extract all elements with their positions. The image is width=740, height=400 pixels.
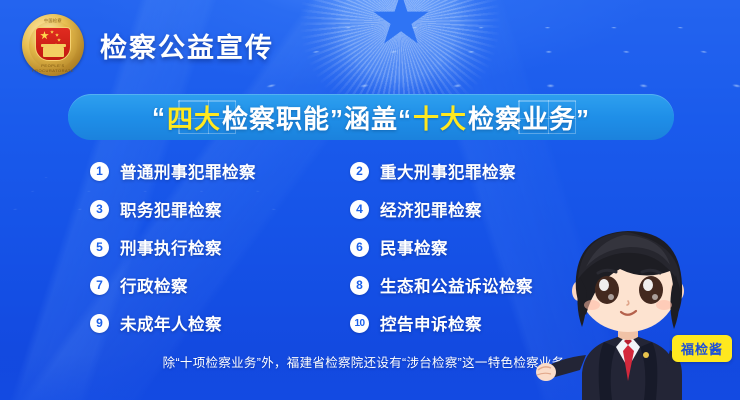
emblem-top-text: 中国检察: [22, 18, 84, 24]
list-item: 5 刑事执行检察: [90, 228, 350, 266]
list-item: 9 未成年人检察: [90, 304, 350, 342]
item-number: 4: [350, 200, 369, 219]
list-item: 1 普通刑事犯罪检察: [90, 152, 350, 190]
headline-segment-3: 十大: [412, 99, 468, 136]
item-label: 行政检察: [120, 273, 188, 297]
item-label: 未成年人检察: [120, 311, 222, 335]
item-label: 民事检察: [380, 235, 448, 259]
list-item: 2 重大刑事犯罪检察: [350, 152, 650, 190]
item-number: 10: [350, 314, 369, 333]
headline-text: “ 四大 检察职能”涵盖“ 十大 检察业务”: [152, 99, 590, 136]
list-item: 8 生态和公益诉讼检察: [350, 266, 650, 304]
headline-banner: “ 四大 检察职能”涵盖“ 十大 检察业务”: [68, 94, 674, 140]
promo-poster: 中国检察 PEOPLE'S PROCURATORATE 检察公益宣传 “ 四大 …: [0, 0, 740, 400]
list-item: 4 经济犯罪检察: [350, 190, 650, 228]
header: 中国检察 PEOPLE'S PROCURATORATE 检察公益宣传: [0, 0, 274, 90]
item-number: 8: [350, 276, 369, 295]
item-number: 5: [90, 238, 109, 257]
item-number: 1: [90, 162, 109, 181]
business-list: 1 普通刑事犯罪检察 2 重大刑事犯罪检察 3 职务犯罪检察 4 经济犯罪检察 …: [0, 152, 740, 342]
page-title: 检察公益宣传: [100, 26, 274, 65]
item-label: 重大刑事犯罪检察: [380, 159, 516, 183]
item-number: 2: [350, 162, 369, 181]
headline-segment-1: 四大: [166, 99, 222, 136]
footnote: 除“十项检察业务”外，福建省检察院还设有“涉台检察”这一特色检察业务。: [0, 352, 740, 371]
headline-segment-2: 检察职能”涵盖“: [222, 99, 412, 136]
item-number: 9: [90, 314, 109, 333]
item-label: 经济犯罪检察: [380, 197, 482, 221]
item-label: 刑事执行检察: [120, 235, 222, 259]
item-number: 3: [90, 200, 109, 219]
list-item: 6 民事检察: [350, 228, 650, 266]
headline-segment-0: “: [152, 102, 166, 133]
item-label: 普通刑事犯罪检察: [120, 159, 256, 183]
list-item: 10 控告申诉检察: [350, 304, 650, 342]
item-label: 职务犯罪检察: [120, 197, 222, 221]
list-item: 3 职务犯罪检察: [90, 190, 350, 228]
item-label: 控告申诉检察: [380, 311, 482, 335]
procuratorate-emblem-icon: 中国检察 PEOPLE'S PROCURATORATE: [22, 14, 84, 76]
mascot-name-badge: 福检酱: [672, 335, 732, 362]
headline-segment-4: 检察业务”: [468, 99, 590, 136]
list-item: 7 行政检察: [90, 266, 350, 304]
item-number: 6: [350, 238, 369, 257]
emblem-bottom-text: PEOPLE'S PROCURATORATE: [22, 63, 84, 73]
item-label: 生态和公益诉讼检察: [380, 273, 533, 297]
item-number: 7: [90, 276, 109, 295]
